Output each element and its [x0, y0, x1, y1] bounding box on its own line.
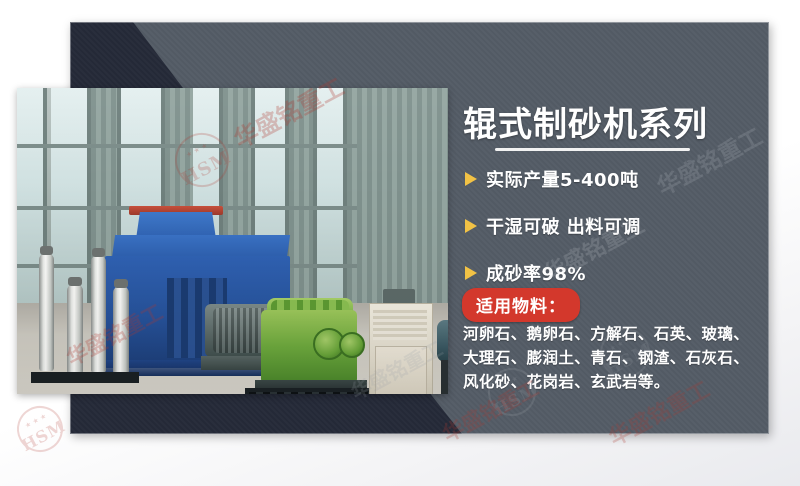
materials-text: 河卵石、鹅卵石、方解石、石英、玻璃、大理石、膨润土、青石、钢渣、石灰石、风化砂、… [463, 322, 753, 394]
banner-canvas: 辊式制砂机系列 实际产量5-400吨 干湿可破 出料可调 成砂率98% 适用物料… [0, 0, 800, 486]
feature-item: 成砂率98% [463, 260, 763, 286]
product-photo [17, 88, 448, 394]
photo-shading [17, 88, 448, 394]
logo-stars: ★ ★ ★ [19, 409, 52, 434]
logo-ring [9, 398, 71, 460]
page-title: 辊式制砂机系列 [463, 97, 708, 146]
hsm-watermark-logo: ★ ★ ★HSM [9, 398, 71, 460]
feature-item: 实际产量5-400吨 [463, 166, 763, 192]
arrow-right-icon [465, 172, 477, 186]
feature-item: 干湿可破 出料可调 [463, 213, 763, 239]
feature-label: 实际产量5-400吨 [486, 166, 639, 192]
arrow-right-icon [465, 266, 477, 280]
feature-label: 干湿可破 出料可调 [486, 213, 641, 239]
title-underline [495, 148, 690, 151]
materials-badge: 适用物料： [462, 288, 580, 322]
feature-label: 成砂率98% [486, 260, 586, 286]
logo-initials: HSM [9, 398, 74, 466]
arrow-right-icon [465, 219, 477, 233]
feature-list: 实际产量5-400吨 干湿可破 出料可调 成砂率98% [463, 166, 763, 307]
